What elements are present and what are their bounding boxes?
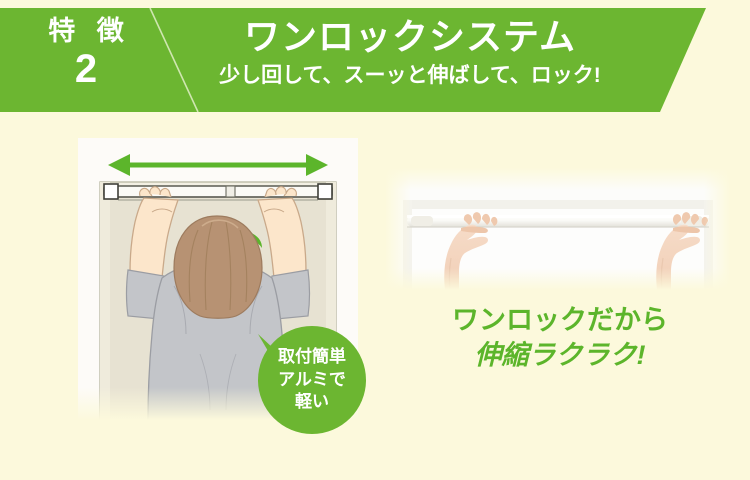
- tension-rod: [104, 184, 332, 200]
- advertisement-page: 特 徴 2 ワンロックシステム 少し回して、スーッと伸ばして、ロック!: [0, 0, 750, 480]
- person-head: [174, 216, 262, 318]
- bubble-line-2: アルミで: [278, 369, 346, 391]
- caption-line-1: ワンロックだから: [400, 303, 720, 338]
- bubble-text: 取付簡単 アルミで 軽い: [258, 326, 366, 434]
- page-subtitle: 少し回して、スーッと伸ばして、ロック!: [180, 63, 640, 89]
- title-block: ワンロックシステム 少し回して、スーッと伸ばして、ロック!: [180, 14, 640, 89]
- bubble-line-3: 軽い: [295, 391, 329, 413]
- right-photo-panel: [385, 168, 730, 290]
- feature-label: 特 徴: [18, 16, 154, 47]
- tension-rod-photo: [385, 168, 730, 290]
- speech-bubble: 取付簡単 アルミで 軽い: [258, 326, 366, 434]
- caption-line-2: 伸縮ラクラク!: [400, 338, 720, 373]
- feature-number: 2: [18, 49, 154, 89]
- feature-badge: 特 徴 2: [18, 16, 154, 89]
- right-caption: ワンロックだから 伸縮ラクラク!: [400, 303, 720, 373]
- bubble-line-1: 取付簡単: [278, 346, 346, 368]
- tension-rod-photo-object: [407, 215, 709, 227]
- page-title: ワンロックシステム: [180, 14, 640, 59]
